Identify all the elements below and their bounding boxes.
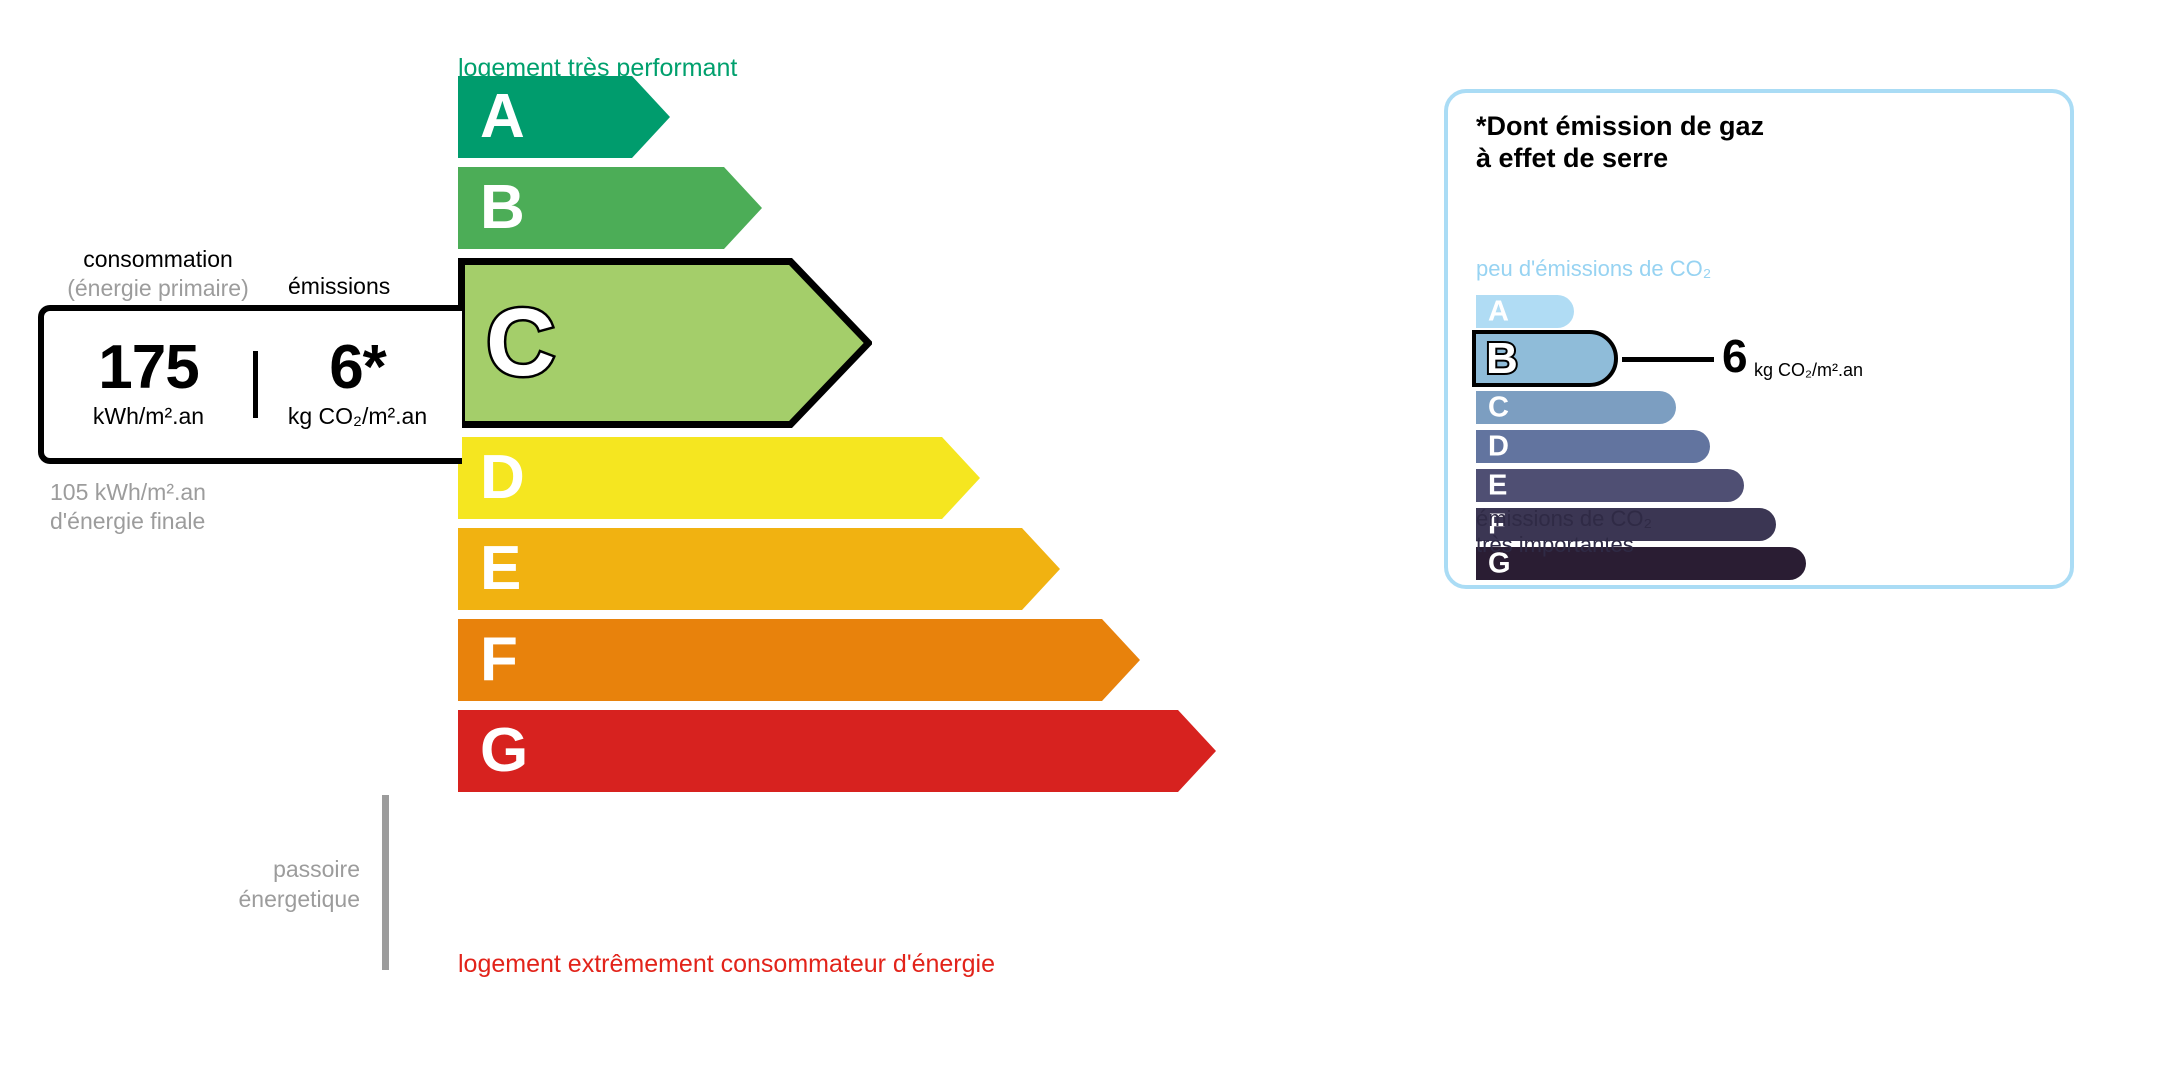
co2-bar-letter-a: A <box>1488 297 1509 326</box>
final-energy-note: 105 kWh/m².an d'énergie finale <box>50 478 206 536</box>
consumption-label-sub: (énergie primaire) <box>38 274 278 303</box>
energy-bar-inner: A <box>458 76 670 158</box>
co2-bar-letter-c: C <box>1488 393 1509 422</box>
energy-bar-letter-g: G <box>480 720 528 782</box>
co2-bottom-caption-line2: très importantes <box>1476 532 1652 558</box>
co2-title-line1: *Dont émission de gaz <box>1476 111 1764 143</box>
energy-bar-letter-a: A <box>480 86 525 148</box>
consumption-unit: kWh/m².an <box>44 403 253 430</box>
co2-panel-title: *Dont émission de gaz à effet de serre <box>1476 111 1764 175</box>
co2-value-unit: kg CO₂/m².an <box>1754 361 1863 379</box>
energy-bar-letter-f: F <box>480 629 518 691</box>
energy-bar-shape-d <box>458 437 980 519</box>
final-energy-line2: d'énergie finale <box>50 507 206 536</box>
co2-title-line2: à effet de serre <box>1476 143 1764 175</box>
co2-bar-d: D <box>1476 430 1710 463</box>
emissions-unit: kg CO₂/m².an <box>253 403 462 430</box>
energy-bar-a: A <box>458 76 670 158</box>
energy-bar-shape-g <box>458 710 1216 792</box>
energy-bar-inner: B <box>458 167 762 249</box>
consumption-label-main: consommation <box>83 246 233 272</box>
co2-leader-line <box>1622 357 1714 362</box>
energy-bar-d: D <box>458 437 980 519</box>
dpe-energy-panel: logement très performant ABCDEFG consomm… <box>0 0 1400 1079</box>
passoire-label: passoire énergetique <box>150 855 360 915</box>
energy-bar-shape-f <box>458 619 1140 701</box>
energy-bar-letter-b: B <box>480 177 525 239</box>
energy-bar-letter-e: E <box>480 538 521 600</box>
consumption-value: 175 <box>44 339 253 398</box>
value-box: 175 kWh/m².an 6* kg CO₂/m².an <box>38 305 462 464</box>
energy-bottom-caption: logement extrêmement consommateur d'éner… <box>458 952 995 977</box>
co2-bar-letter-d: D <box>1488 432 1509 461</box>
passoire-label-line2: énergetique <box>150 885 360 915</box>
co2-bottom-caption: émissions de CO₂ très importantes <box>1476 506 1652 559</box>
energy-bar-inner: G <box>458 710 1216 792</box>
energy-bar-e: E <box>458 528 1060 610</box>
co2-bar-b: B <box>1472 330 1618 387</box>
co2-bottom-caption-line1: émissions de CO₂ <box>1476 506 1652 532</box>
energy-bar-shape-e <box>458 528 1060 610</box>
energy-bar-letter-c: C <box>486 295 555 391</box>
co2-bar-e: E <box>1476 469 1744 502</box>
final-energy-line1: 105 kWh/m².an <box>50 478 206 507</box>
co2-value: 6 <box>1722 333 1748 379</box>
energy-bar-inner: D <box>458 437 980 519</box>
value-box-labels: consommation (énergie primaire) émission… <box>38 245 462 303</box>
emissions-label: émissions <box>288 273 390 300</box>
consumption-label: consommation (énergie primaire) <box>38 245 278 303</box>
energy-bar-g: G <box>458 710 1216 792</box>
co2-bar-a: A <box>1476 295 1574 328</box>
energy-bar-f: F <box>458 619 1140 701</box>
co2-bar-letter-b: B <box>1486 337 1518 381</box>
co2-bar-c: C <box>1476 391 1676 424</box>
emissions-value-cell: 6* kg CO₂/m².an <box>253 339 462 431</box>
co2-top-caption: peu d'émissions de CO₂ <box>1476 258 1711 280</box>
passoire-bracket <box>382 795 389 970</box>
energy-bar-inner: C <box>458 258 872 428</box>
co2-bar-letter-e: E <box>1488 471 1507 500</box>
consumption-value-cell: 175 kWh/m².an <box>44 339 253 431</box>
passoire-label-line1: passoire <box>150 855 360 885</box>
energy-bar-letter-d: D <box>480 447 525 509</box>
energy-bar-inner: F <box>458 619 1140 701</box>
energy-bar-b: B <box>458 167 762 249</box>
emissions-value: 6* <box>253 339 462 398</box>
energy-bar-inner: E <box>458 528 1060 610</box>
energy-bar-c: C <box>458 258 872 428</box>
co2-panel: *Dont émission de gaz à effet de serre p… <box>1444 89 2074 589</box>
